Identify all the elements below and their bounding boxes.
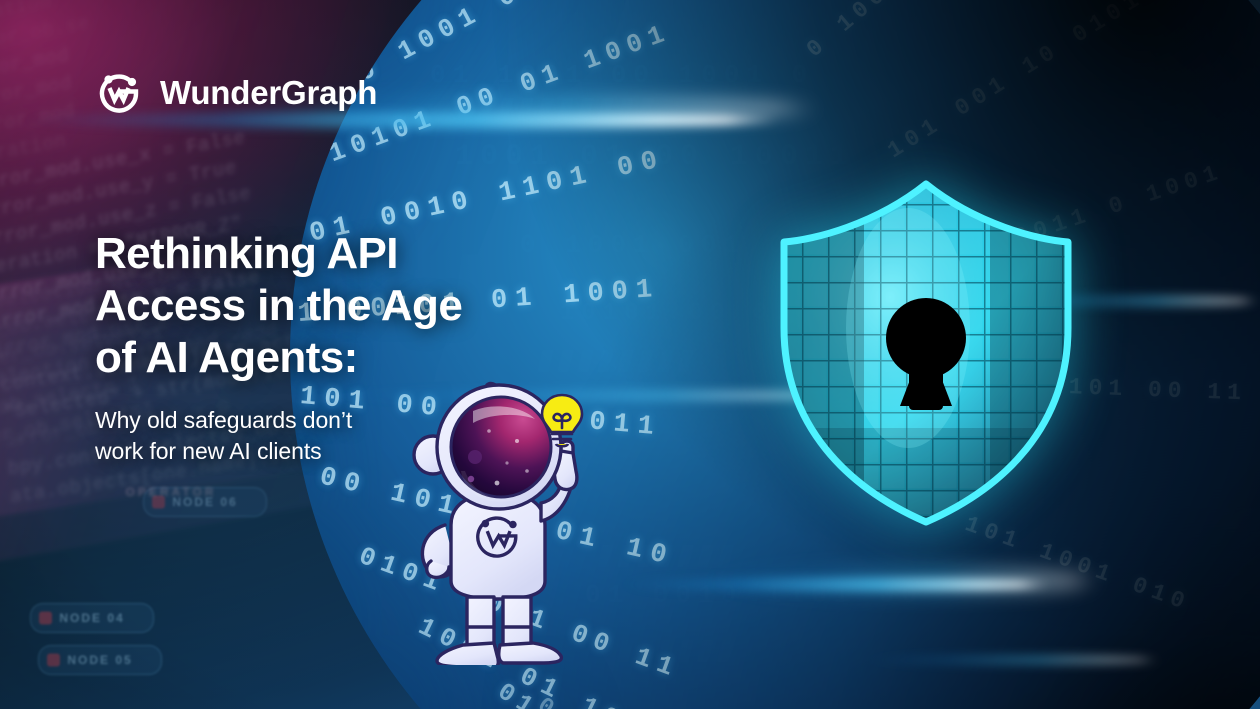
hero-banner: operation mirror_ob.se mirror_mod mirror… — [0, 0, 1260, 709]
security-shield — [776, 178, 1076, 528]
node-chip-label: NODE 04 — [59, 611, 124, 625]
code-line: operation — [0, 0, 460, 31]
binary-row: 0 1001 001 01 10 — [533, 692, 810, 709]
brand-name: WunderGraph — [160, 74, 377, 112]
idea-lightbulb — [538, 392, 586, 450]
brand-logo[interactable]: WunderGraph — [95, 66, 377, 119]
chip-status-dot — [47, 654, 60, 667]
page-subtitle: Why old safeguards don’t work for new AI… — [95, 405, 425, 467]
page-title: Rethinking API Access in the Age of AI A… — [95, 228, 575, 384]
astronaut-right-boot — [499, 643, 562, 663]
subhead-line-1: Why old safeguards don’t — [95, 405, 425, 436]
binary-row: 01 1001 0011 10 — [492, 677, 775, 709]
binary-row: 1001 01 00 10011 — [392, 0, 687, 12]
headline-line-1: Rethinking API — [95, 228, 575, 280]
operator-text: OPERATOR — [126, 485, 217, 499]
headline-line-2: Access in the Age — [95, 280, 575, 332]
wundergraph-logo-icon — [95, 66, 143, 119]
binary-row: 0 1001 0101 110 — [802, 0, 1046, 63]
light-streak-glow — [700, 566, 1100, 596]
binary-row: 101 001 10 0101 — [883, 0, 1149, 164]
astronaut-left-boot — [437, 643, 498, 665]
node-chip-label: NODE 05 — [67, 653, 132, 667]
chip-status-dot — [39, 612, 52, 625]
light-streak — [860, 655, 1160, 665]
headline-line-3: of AI Agents: — [95, 332, 575, 384]
node-chip: NODE 04 — [30, 603, 154, 633]
operator-label: OPERATOR — [96, 478, 246, 506]
node-chip: NODE 05 — [38, 645, 162, 675]
bulb-base — [556, 444, 568, 446]
subhead-line-2: work for new AI clients — [95, 436, 425, 467]
